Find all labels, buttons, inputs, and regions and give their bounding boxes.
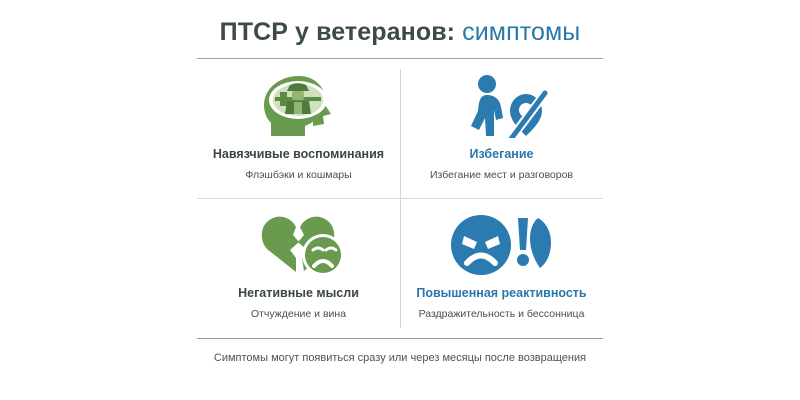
symptom-card-subtitle: Флэшбэки и кошмары [245,169,351,181]
head-with-soldier-memory-icon [253,73,345,139]
symptom-card-title: Негативные мысли [238,287,359,301]
symptom-card-title: Избегание [470,148,534,162]
symptom-card-intrusive-memories[interactable]: Навязчивые воспоминания Флэшбэки и кошма… [197,59,400,199]
symptom-grid: Навязчивые воспоминания Флэшбэки и кошма… [197,59,603,338]
infographic-poster: ПТСР у ветеранов: симптомы [0,0,800,400]
footer-note: Симптомы могут появиться сразу или через… [197,352,603,365]
broken-heart-sad-face-icon [247,212,351,278]
symptom-card-hyperarousal[interactable]: Повышенная реактивность Раздражительност… [400,198,603,338]
symptom-card-negative-thoughts[interactable]: Негативные мысли Отчуждение и вина [197,198,400,338]
page-title-main: ПТСР у ветеранов: [220,18,455,46]
symptom-card-subtitle: Раздражительность и бессонница [419,308,585,320]
footer-divider [197,338,603,339]
page-title: ПТСР у ветеранов: симптомы [0,18,800,47]
angry-face-exclamation-moon-icon [450,212,554,278]
walking-person-no-location-icon [454,73,550,139]
symptom-card-subtitle: Отчуждение и вина [251,308,346,320]
symptom-card-title: Навязчивые воспоминания [213,148,384,162]
symptom-card-subtitle: Избегание мест и разговоров [430,169,573,181]
symptom-card-title: Повышенная реактивность [416,287,586,301]
page-title-accent: симптомы [462,18,580,46]
symptom-card-avoidance[interactable]: Избегание Избегание мест и разговоров [400,59,603,199]
title-area: ПТСР у ветеранов: симптомы [0,0,800,59]
